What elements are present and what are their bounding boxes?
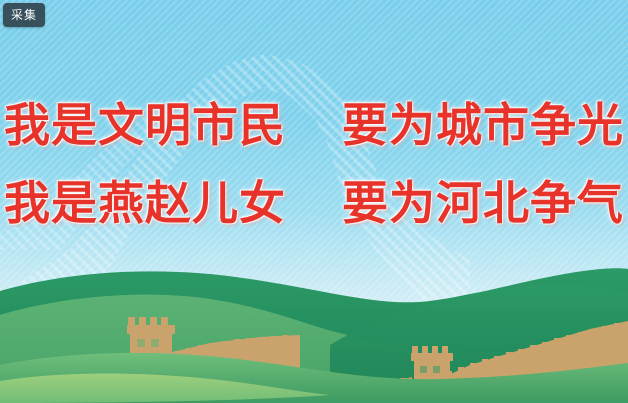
slogan-line-2-right: 要为河北争气 bbox=[342, 176, 624, 230]
slogan-text-block: 我是文明市民 要为城市争光 我是燕赵儿女 要为河北争气 bbox=[0, 86, 628, 242]
capture-button[interactable]: 采集 bbox=[3, 3, 45, 27]
slogan-line-1-left: 我是文明市民 bbox=[4, 98, 286, 152]
landscape-scenery bbox=[0, 253, 628, 403]
slogan-line-1-right: 要为城市争光 bbox=[342, 98, 624, 152]
slogan-line-1: 我是文明市民 要为城市争光 bbox=[0, 86, 628, 164]
poster-banner: 我是文明市民 要为城市争光 我是燕赵儿女 要为河北争气 采集 bbox=[0, 0, 628, 403]
slogan-line-2: 我是燕赵儿女 要为河北争气 bbox=[0, 164, 628, 242]
slogan-line-2-left: 我是燕赵儿女 bbox=[4, 176, 286, 230]
